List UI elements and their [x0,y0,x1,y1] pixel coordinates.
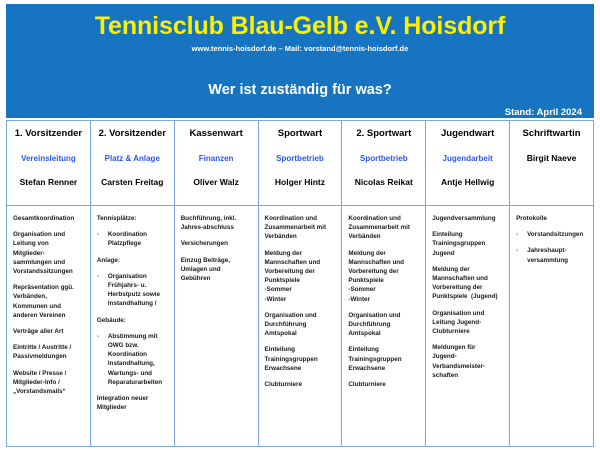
duty-line: Koordination und [265,214,337,223]
person-name: Stefan Renner [7,177,90,188]
bullet-dash-icon: - [97,272,108,309]
duty-block: Organisation undDurchführungAmtspokal [265,311,337,339]
duty-line: Vorstandssitzungen [13,267,85,276]
duty-line: Umlagen und [181,265,253,274]
role-title: Sportwart [259,128,342,140]
duty-line: Jugend- [432,352,504,361]
duty-line: Meldung der [432,265,504,274]
duties-cell-4: Koordination undZusammenarbeit mitVerbän… [342,206,426,447]
duty-block: Koordination undZusammenarbeit mitVerbän… [265,214,337,242]
bullet-dash-icon: - [516,230,527,239]
duty-line: Buchführung, inkl. [181,214,253,223]
duty-block: Website / Presse /Mitglieder-Info /„Vors… [13,369,85,397]
duty-line: -Sommer [348,285,420,294]
duty-line: Clubturniere [432,327,504,336]
duty-block: Gebäude: [97,316,169,325]
duty-block: Clubturniere [348,380,420,389]
duty-line: Verbänden, [13,292,85,301]
header-cell-2: Kassenwart Finanzen Oliver Walz [174,121,258,206]
duty-line: Trainingsgruppen [432,239,504,248]
duty-line: Einzug Beiträge, [181,256,253,265]
duty-line: -Winter [348,295,420,304]
duty-line: Jahres-abschluss [181,223,253,232]
duty-line: Punktspiele [348,276,420,285]
header-cell-1: 2. Vorsitzender Platz & Anlage Carsten F… [90,121,174,206]
duty-line: Verbänden [348,232,420,241]
duty-line: Meldung der [348,249,420,258]
duty-line: Organisation und [265,311,337,320]
duties-list: Koordination undZusammenarbeit mitVerbän… [342,206,425,393]
duty-line: -Sommer [265,285,337,294]
duty-line: -Winter [265,295,337,304]
duty-line: Meldung der [265,249,337,258]
duty-line: Erwachsene [348,364,420,373]
duty-block: Meldungen fürJugend-Verbandsmeister-scha… [432,343,504,380]
duty-line: Leitung Jugend- [432,318,504,327]
duty-line: Passivmeldungen [13,352,85,361]
person-name: Oliver Walz [175,177,258,188]
duty-line: Verträge aller Art [13,327,85,336]
duty-line: Gebühren [181,274,253,283]
role-title: 2. Vorsitzender [91,128,174,140]
area-label: Sportbetrieb [259,153,342,164]
duty-block: Anlage: [97,256,169,265]
duty-line: Jugend [432,249,504,258]
duty-line: Organisation und [348,311,420,320]
duty-block: Organisation undLeitung vonMitglieder-sa… [13,230,85,276]
table-body-row: GesamtkoordinationOrganisation undLeitun… [7,206,594,447]
bullet-dash-icon: - [97,230,108,248]
duty-line: Leitung von [13,239,85,248]
duty-line: Durchführung [265,320,337,329]
revision-date: Stand: April 2024 [505,107,582,118]
person-name: Birgit Naeve [510,153,593,164]
club-title: Tennisclub Blau-Gelb e.V. Hoisdorf [6,12,594,40]
duty-line: Eintritte / Austritte / [13,343,85,352]
duty-line: Vorbereitung der [348,267,420,276]
duty-bullet-item: -Koordination Platzpflege [97,230,169,248]
duty-block: Tennisplätze: [97,214,169,223]
duty-block: Organisation undLeitung Jugend-Clubturni… [432,309,504,337]
duty-block: Protokolle [516,214,588,223]
duties-cell-0: GesamtkoordinationOrganisation undLeitun… [7,206,91,447]
duty-line: Erwachsene [265,364,337,373]
duty-block: Eintritte / Austritte /Passivmeldungen [13,343,85,361]
duty-line: Vorbereitung der [265,267,337,276]
duty-line: Durchführung [348,320,420,329]
duties-cell-1: Tennisplätze:-Koordination PlatzpflegeAn… [90,206,174,447]
document-page: Tennisclub Blau-Gelb e.V. Hoisdorf www.t… [0,0,600,450]
header-cell-5: Jugendwart Jugendarbeit Antje Hellwig [426,121,510,206]
club-banner: Tennisclub Blau-Gelb e.V. Hoisdorf www.t… [6,4,594,118]
duty-line: Einteilung [348,345,420,354]
duty-line: Trainingsgruppen [265,355,337,364]
duties-list: Tennisplätze:-Koordination PlatzpflegeAn… [91,206,174,416]
duty-line: Jugendversammlung [432,214,504,223]
table-header-row: 1. Vorsitzender Vereinsleitung Stefan Re… [7,121,594,206]
duty-line: Punktspiele (Jugend) [432,292,504,301]
duty-line: Punktspiele [265,276,337,285]
duty-line: „Vorstandsmails“ [13,387,85,396]
duty-line: Clubturniere [348,380,420,389]
duty-block: Buchführung, inkl.Jahres-abschluss [181,214,253,232]
duty-block: Einzug Beiträge,Umlagen undGebühren [181,256,253,284]
duties-cell-3: Koordination undZusammenarbeit mitVerbän… [258,206,342,447]
duty-bullet-item: -Jahreshaupt- versammlung [516,246,588,264]
bullet-dash-icon: - [97,332,108,387]
duty-bullet-item: -Abstimmung mit OWG bzw. Koordination In… [97,332,169,387]
duties-cell-6: Protokolle-Vorstandsitzungen-Jahreshaupt… [510,206,594,447]
duty-line: Zusammenarbeit mit [348,223,420,232]
duty-block: Meldung derMannschaften undVorbereitung … [432,265,504,302]
duty-line: Verbandsmeister- [432,362,504,371]
duty-bullet-item: -Vorstandsitzungen [516,230,588,239]
duty-line: Gesamtkoordination [13,214,85,223]
duty-line: Organisation und [13,230,85,239]
duty-bullet-text: Jahreshaupt- versammlung [527,246,588,264]
person-name: Antje Hellwig [426,177,509,188]
role-title: Schriftwartin [510,128,593,140]
duty-block: EinteilungTrainingsgruppenJugend [432,230,504,258]
duties-list: Koordination undZusammenarbeit mitVerbän… [259,206,342,393]
role-title: 2. Sportwart [342,128,425,140]
duty-line: Clubturniere [265,380,337,389]
duty-line: Integration neuer [97,394,169,403]
page-subtitle: Wer ist zuständig für was? [6,82,594,99]
area-label: Vereinsleitung [7,153,90,164]
duty-line: schaften [432,371,504,380]
duty-line: Repräsentation ggü. [13,283,85,292]
duty-line: Amtspokal [348,329,420,338]
duty-line: Protokolle [516,214,588,223]
duties-cell-5: JugendversammlungEinteilungTrainingsgrup… [426,206,510,447]
duty-bullet-text: Abstimmung mit OWG bzw. Koordination Ins… [108,332,169,387]
area-label: Sportbetrieb [342,153,425,164]
duty-line: Mannschaften und [432,274,504,283]
duty-block: Meldung derMannschaften undVorbereitung … [265,249,337,304]
responsibility-matrix: 1. Vorsitzender Vereinsleitung Stefan Re… [6,120,594,447]
header-cell-4: 2. Sportwart Sportbetrieb Nicolas Reikat [342,121,426,206]
duty-block: Jugendversammlung [432,214,504,223]
duty-line: Verbänden [265,232,337,241]
duty-block: Verträge aller Art [13,327,85,336]
duties-list: GesamtkoordinationOrganisation undLeitun… [7,206,90,400]
area-label: Platz & Anlage [91,153,174,164]
duty-block: Versicherungen [181,239,253,248]
duty-block: Organisation undDurchführungAmtspokal [348,311,420,339]
duty-line: Mitglieder-Info / [13,378,85,387]
duty-line: Anlage: [97,256,169,265]
duty-block: Gesamtkoordination [13,214,85,223]
duty-line: Koordination und [348,214,420,223]
duty-line: Organisation und [432,309,504,318]
duty-bullet-text: Organisation Frühjahrs- u. Herbstputz so… [108,272,169,309]
duty-line: Zusammenarbeit mit [265,223,337,232]
duty-block: Clubturniere [265,380,337,389]
duty-line: Vorbereitung der [432,283,504,292]
duty-block: EinteilungTrainingsgruppenErwachsene [348,345,420,373]
duty-line: sammlungen und [13,258,85,267]
duties-cell-2: Buchführung, inkl.Jahres-abschlussVersic… [174,206,258,447]
duty-bullet-text: Koordination Platzpflege [108,230,169,248]
duty-line: Einteilung [265,345,337,354]
role-title: Kassenwart [175,128,258,140]
duty-line: Tennisplätze: [97,214,169,223]
duty-block: Koordination undZusammenarbeit mitVerbän… [348,214,420,242]
duty-line: Mannschaften und [348,258,420,267]
duty-bullet-item: -Organisation Frühjahrs- u. Herbstputz s… [97,272,169,309]
role-title: Jugendwart [426,128,509,140]
duties-list: Protokolle-Vorstandsitzungen-Jahreshaupt… [510,206,593,276]
duty-line: Gebäude: [97,316,169,325]
duty-line: Einteilung [432,230,504,239]
club-contact-line: www.tennis-hoisdorf.de – Mail: vorstand@… [6,43,594,54]
duty-block: Repräsentation ggü.Verbänden,Kommunen un… [13,283,85,320]
duty-line: Trainingsgruppen [348,355,420,364]
header-cell-3: Sportwart Sportbetrieb Holger Hintz [258,121,342,206]
duties-list: JugendversammlungEinteilungTrainingsgrup… [426,206,509,384]
duty-line: Mitglieder- [13,249,85,258]
person-name: Nicolas Reikat [342,177,425,188]
duty-line: Mannschaften und [265,258,337,267]
duty-line: Mitglieder [97,403,169,412]
duties-list: Buchführung, inkl.Jahres-abschlussVersic… [175,206,258,287]
duty-block: Meldung derMannschaften undVorbereitung … [348,249,420,304]
person-name: Carsten Freitag [91,177,174,188]
role-title: 1. Vorsitzender [7,128,90,140]
person-name: Holger Hintz [259,177,342,188]
bullet-dash-icon: - [516,246,527,264]
area-label: Finanzen [175,153,258,164]
duty-line: anderen Vereinen [13,311,85,320]
duty-line: Versicherungen [181,239,253,248]
duty-bullet-text: Vorstandsitzungen [527,230,588,239]
duty-line: Amtspokal [265,329,337,338]
header-cell-6: Schriftwartin Birgit Naeve [510,121,594,206]
duty-line: Website / Presse / [13,369,85,378]
duty-line: Meldungen für [432,343,504,352]
duty-block: Integration neuerMitglieder [97,394,169,412]
header-cell-0: 1. Vorsitzender Vereinsleitung Stefan Re… [7,121,91,206]
duty-block: EinteilungTrainingsgruppenErwachsene [265,345,337,373]
area-label: Jugendarbeit [426,153,509,164]
duty-line: Kommunen und [13,302,85,311]
